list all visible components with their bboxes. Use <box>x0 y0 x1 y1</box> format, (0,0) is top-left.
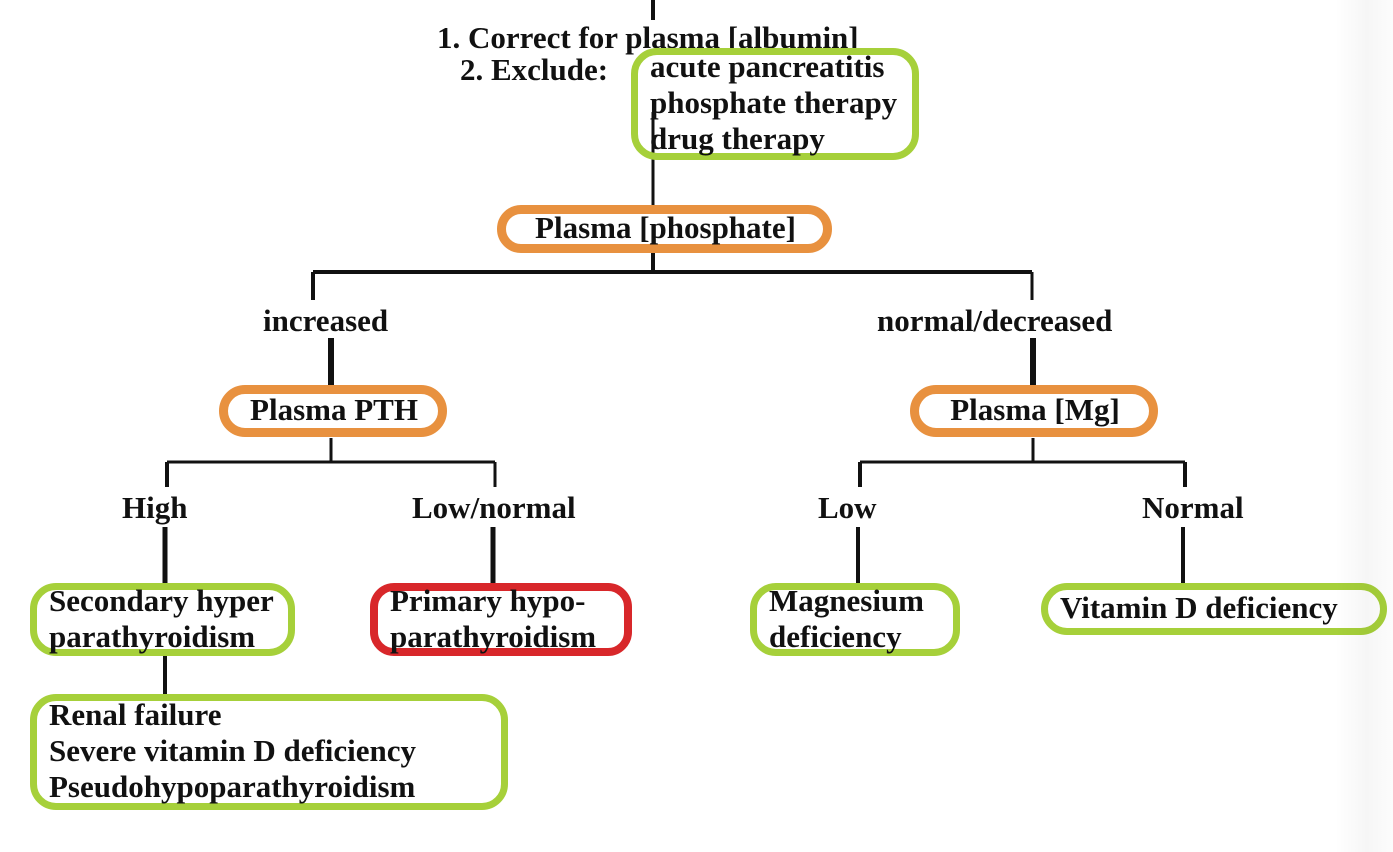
node-plasma-pth: Plasma PTH <box>219 385 447 437</box>
node-primary-hypoparathyroidism: Primary hypo- parathyroidism <box>370 583 632 656</box>
node-plasma-mg: Plasma [Mg] <box>910 385 1158 437</box>
node-secondary-hyperparathyroidism: Secondary hyper parathyroidism <box>30 583 295 656</box>
branch-label-low: Low <box>818 490 877 526</box>
node-plasma-mg-label: Plasma [Mg] <box>950 392 1120 428</box>
slide-edge-shadow <box>1335 0 1393 852</box>
branch-label-increased: increased <box>263 303 388 339</box>
branch-label-low-normal: Low/normal <box>412 490 576 526</box>
exclusions-box: acute pancreatitis phosphate therapy dru… <box>631 48 919 160</box>
exclusion-drug-therapy: drug therapy <box>650 121 902 157</box>
magnesium-deficiency-line1: Magnesium <box>769 583 943 619</box>
primary-hypopara-line1: Primary hypo- <box>390 583 614 619</box>
node-secondary-causes: Renal failure Severe vitamin D deficienc… <box>30 694 508 810</box>
exclusion-phosphate-therapy: phosphate therapy <box>650 85 902 121</box>
primary-hypopara-line2: parathyroidism <box>390 619 614 655</box>
cause-renal-failure: Renal failure <box>49 697 491 733</box>
cause-pseudohypoparathyroidism: Pseudohypoparathyroidism <box>49 769 491 805</box>
exclusion-acute-pancreatitis: acute pancreatitis <box>650 49 902 85</box>
node-plasma-phosphate-label: Plasma [phosphate] <box>535 210 796 246</box>
node-vitamin-d-deficiency: Vitamin D deficiency <box>1041 583 1387 635</box>
cause-severe-vitamin-d-deficiency: Severe vitamin D deficiency <box>49 733 491 769</box>
node-magnesium-deficiency: Magnesium deficiency <box>750 583 960 656</box>
node-plasma-pth-label: Plasma PTH <box>250 392 418 428</box>
diagram-canvas: 1. Correct for plasma [albumin] 2. Exclu… <box>0 0 1393 852</box>
branch-label-normal-decreased: normal/decreased <box>877 303 1112 339</box>
branch-label-high: High <box>122 490 187 526</box>
secondary-hyperpara-line2: parathyroidism <box>49 619 278 655</box>
secondary-hyperpara-line1: Secondary hyper <box>49 583 278 619</box>
magnesium-deficiency-line2: deficiency <box>769 619 943 655</box>
vitamin-d-deficiency-label: Vitamin D deficiency <box>1060 590 1338 626</box>
step-2-exclude-prefix: 2. Exclude: <box>460 52 608 88</box>
branch-label-normal: Normal <box>1142 490 1244 526</box>
node-plasma-phosphate: Plasma [phosphate] <box>497 205 832 253</box>
